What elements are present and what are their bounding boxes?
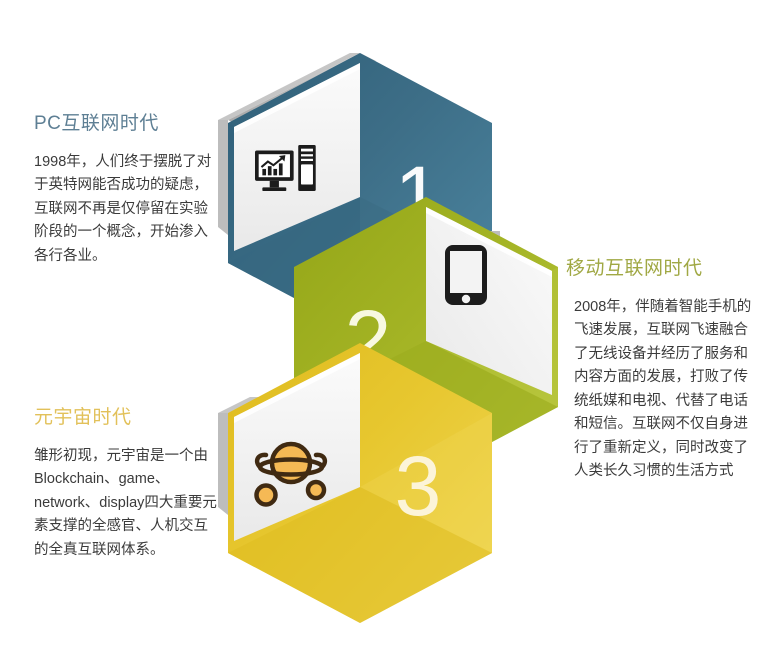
pc-era-title: PC互联网时代 xyxy=(22,108,218,135)
hexagon-step-graphic: 1 xyxy=(200,45,580,585)
metaverse-era-body: 雏形初现，元宇宙是一个由Blockchain、game、network、disp… xyxy=(22,445,218,562)
text-block-pc-era: PC互联网时代 1998年，人们终于摆脱了对于英特网能否成功的疑虑，互联网不再是… xyxy=(22,108,218,268)
text-block-metaverse-era: 元宇宙时代 雏形初现，元宇宙是一个由Blockchain、game、networ… xyxy=(22,402,218,562)
infographic-canvas: 1 xyxy=(0,0,769,671)
metaverse-era-title: 元宇宙时代 xyxy=(22,402,218,429)
mobile-era-title: 移动互联网时代 xyxy=(566,253,762,280)
mobile-era-body: 2008年，伴随着智能手机的飞速发展，互联网飞速融合了无线设备并经历了服务和内容… xyxy=(566,296,762,484)
text-block-mobile-era: 移动互联网时代 2008年，伴随着智能手机的飞速发展，互联网飞速融合了无线设备并… xyxy=(566,253,762,484)
hex-step-3-number: 3 xyxy=(395,439,442,533)
pc-era-body: 1998年，人们终于摆脱了对于英特网能否成功的疑虑，互联网不再是仅停留在实验阶段… xyxy=(22,151,218,268)
tablet-icon xyxy=(445,245,487,305)
